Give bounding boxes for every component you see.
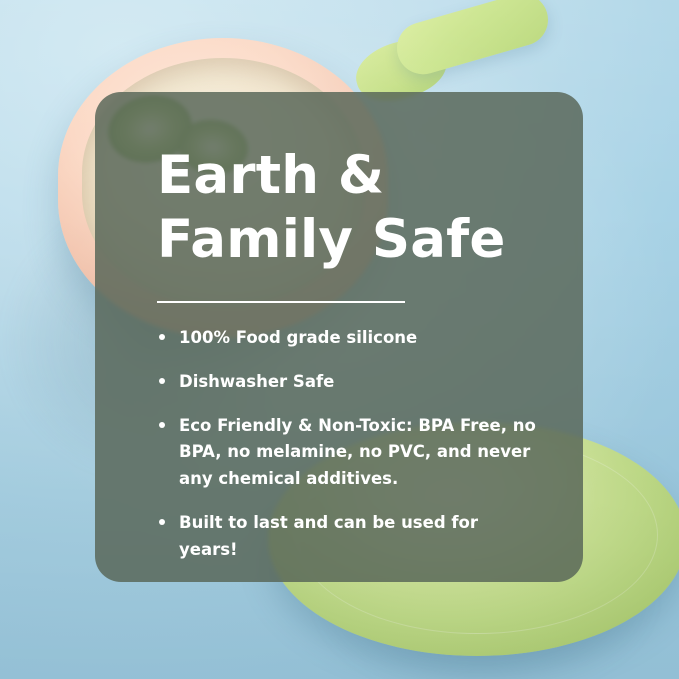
feature-list: 100% Food grade silicone Dishwasher Safe…	[157, 325, 543, 563]
product-feature-image: Earth & Family Safe 100% Food grade sili…	[0, 0, 679, 679]
card-title: Earth & Family Safe	[157, 144, 543, 271]
list-item: Dishwasher Safe	[157, 369, 539, 396]
feature-card: Earth & Family Safe 100% Food grade sili…	[95, 92, 583, 582]
card-title-line-1: Earth &	[157, 145, 384, 206]
list-item: Eco Friendly & Non-Toxic: BPA Free, no B…	[157, 413, 539, 493]
card-title-line-2: Family Safe	[157, 209, 506, 270]
list-item: Built to last and can be used for years!	[157, 510, 539, 563]
list-item: 100% Food grade silicone	[157, 325, 539, 352]
title-divider	[157, 301, 405, 303]
